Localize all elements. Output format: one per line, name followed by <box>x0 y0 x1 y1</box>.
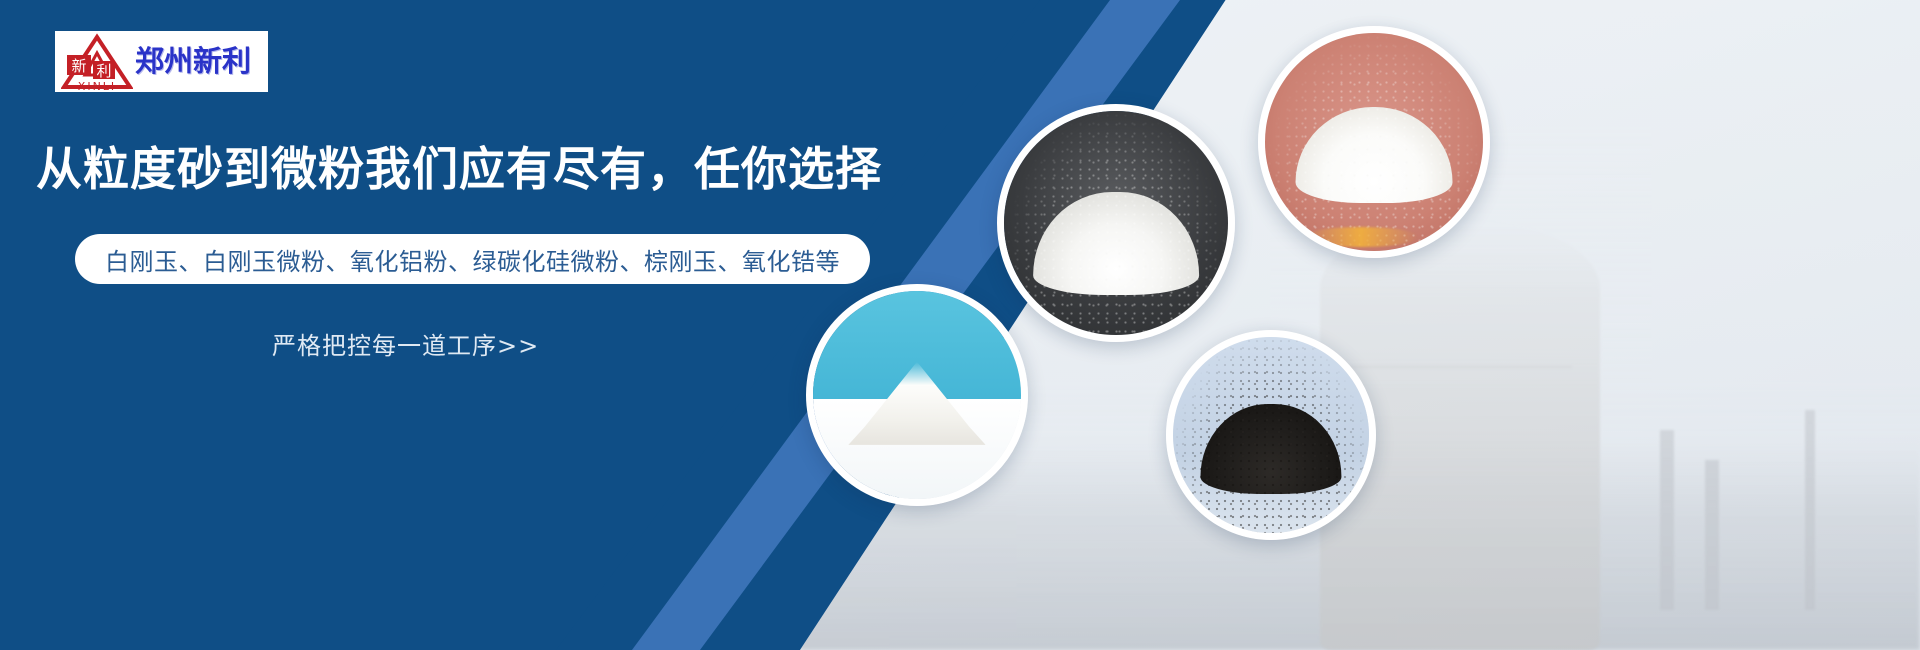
brand-name: 郑州新利 <box>135 47 251 76</box>
product-photo-white-fused-alumina-grit <box>997 104 1235 342</box>
process-cta-link[interactable]: 严格把控每一道工序>> <box>272 326 539 361</box>
company-logo[interactable]: 新 利 XINLI 郑州新利 <box>55 31 268 92</box>
svg-text:利: 利 <box>96 62 111 80</box>
promo-banner: 新 利 XINLI 郑州新利 从粒度砂到微粉我们应有尽有，任你选择 白刚玉、白刚… <box>0 0 1920 650</box>
product-list-text: 白刚玉、白刚玉微粉、氧化铝粉、绿碳化硅微粉、棕刚玉、氧化锆等 <box>105 242 840 277</box>
product-photo-green-silicon-carbide-grit <box>1166 330 1376 540</box>
svg-text:XINLI: XINLI <box>78 80 116 91</box>
product-photo-white-powder-cone <box>806 284 1028 506</box>
headline-text: 从粒度砂到微粉我们应有尽有，任你选择 <box>36 143 882 196</box>
grain-speckle-overlay <box>1173 337 1369 533</box>
product-photo-alumina-micro-powder <box>1258 26 1490 258</box>
grain-speckle-overlay <box>1004 111 1228 335</box>
amber-rim-highlight <box>1304 227 1417 247</box>
grain-speckle-overlay <box>1265 33 1483 251</box>
svg-text:新: 新 <box>71 57 86 75</box>
product-list-pill[interactable]: 白刚玉、白刚玉微粉、氧化铝粉、绿碳化硅微粉、棕刚玉、氧化锆等 <box>75 234 870 284</box>
xinli-triangle-icon: 新 利 XINLI <box>61 33 133 91</box>
